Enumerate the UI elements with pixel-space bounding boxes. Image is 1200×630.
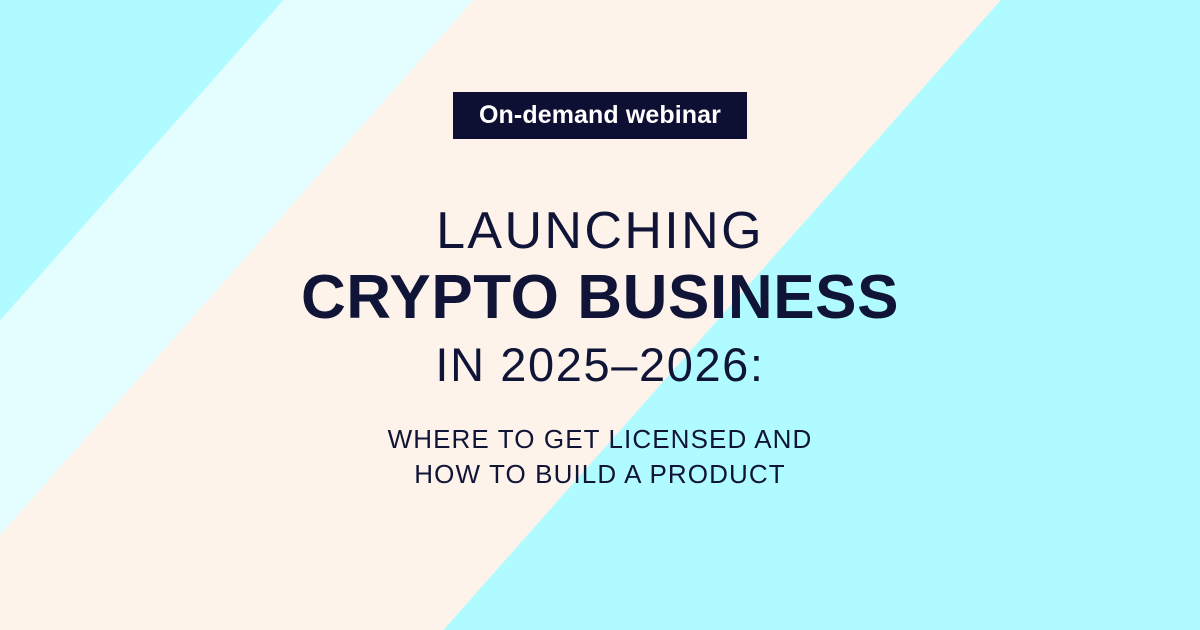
poster-content: On-demand webinar LAUNCHING CRYPTO BUSIN…: [0, 0, 1200, 630]
headline-line-1: LAUNCHING: [301, 205, 899, 257]
headline-line-2: CRYPTO BUSINESS: [301, 267, 899, 329]
status-badge: On-demand webinar: [453, 92, 747, 139]
webinar-promo-poster: On-demand webinar LAUNCHING CRYPTO BUSIN…: [0, 0, 1200, 630]
subtitle: WHERE TO GET LICENSED AND HOW TO BUILD A…: [388, 422, 813, 493]
headline-line-3: IN 2025–2026:: [301, 341, 899, 388]
subtitle-line-1: WHERE TO GET LICENSED AND: [388, 422, 813, 457]
subtitle-line-2: HOW TO BUILD A PRODUCT: [388, 457, 813, 492]
page-title: LAUNCHING CRYPTO BUSINESS IN 2025–2026:: [301, 205, 899, 388]
